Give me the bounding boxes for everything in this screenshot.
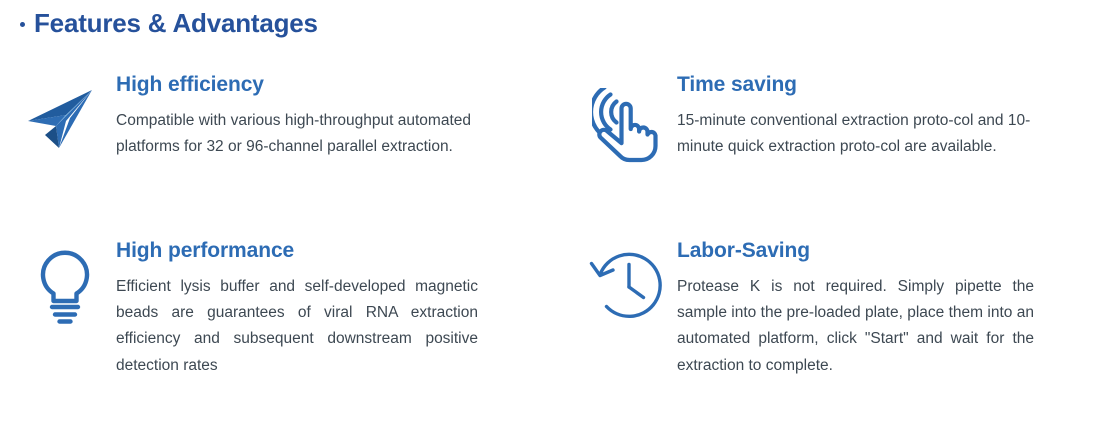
feature-body: High performance Efficient lysis buffer …: [116, 240, 550, 379]
title-bullet-icon: [20, 22, 25, 27]
feature-heading: Labor-Saving: [677, 240, 1034, 261]
feature-card-high-performance: High performance Efficient lysis buffer …: [0, 240, 550, 379]
page-title: Features & Advantages: [20, 10, 318, 36]
feature-heading: Time saving: [677, 74, 1034, 95]
tap-hand-icon: [550, 74, 677, 164]
feature-card-labor-saving: Labor-Saving Protease K is not required.…: [550, 240, 1094, 379]
feature-description: Compatible with various high-throughput …: [116, 108, 478, 160]
feature-card-high-efficiency: High efficiency Compatible with various …: [0, 74, 550, 240]
feature-description: Efficient lysis buffer and self-develope…: [116, 274, 478, 379]
feature-body: Time saving 15-minute conventional extra…: [677, 74, 1094, 160]
features-grid: High efficiency Compatible with various …: [0, 74, 1094, 379]
feature-heading: High performance: [116, 240, 478, 261]
clock-rewind-icon: [550, 240, 677, 322]
feature-body: Labor-Saving Protease K is not required.…: [677, 240, 1094, 379]
page-title-text: Features & Advantages: [34, 10, 318, 36]
feature-description: Protease K is not required. Simply pipet…: [677, 274, 1034, 379]
paper-plane-icon: [0, 74, 116, 150]
feature-body: High efficiency Compatible with various …: [116, 74, 550, 160]
feature-card-time-saving: Time saving 15-minute conventional extra…: [550, 74, 1094, 240]
lightbulb-icon: [0, 240, 116, 324]
feature-heading: High efficiency: [116, 74, 478, 95]
feature-description: 15-minute conventional extraction proto-…: [677, 108, 1034, 160]
